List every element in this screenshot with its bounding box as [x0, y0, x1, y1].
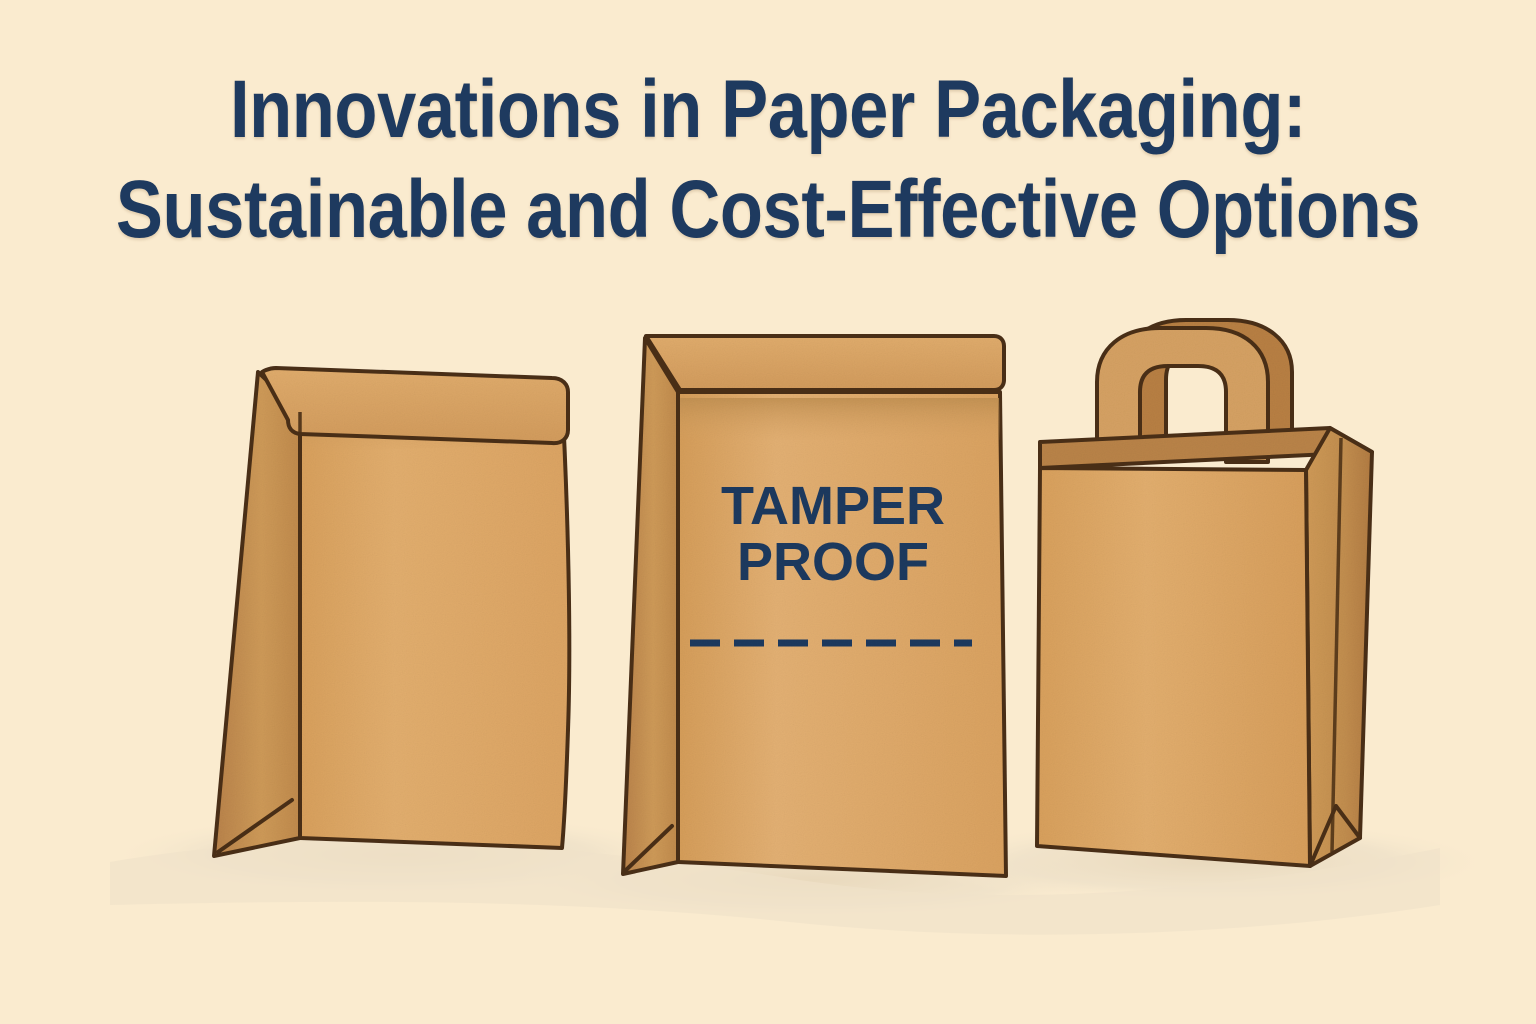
bag-plain-flat-top [214, 368, 569, 856]
bag2-front-face [678, 392, 1006, 876]
tamper-proof-label-line2: PROOF [737, 532, 929, 592]
bag2-top-flap [646, 336, 1004, 390]
bag2-shadow-band [680, 398, 1000, 440]
bag1-top-flap [262, 368, 568, 443]
bag1-front-face [300, 396, 569, 848]
tamper-proof-label-line1: TAMPER [721, 476, 945, 536]
paper-packaging-illustration: TAMPER PROOF [0, 0, 1536, 1024]
illustration-canvas: TAMPER PROOF Innovations [0, 0, 1536, 1024]
bag-tamper-proof: TAMPER PROOF [623, 336, 1006, 876]
bag3-front-face [1037, 468, 1310, 866]
